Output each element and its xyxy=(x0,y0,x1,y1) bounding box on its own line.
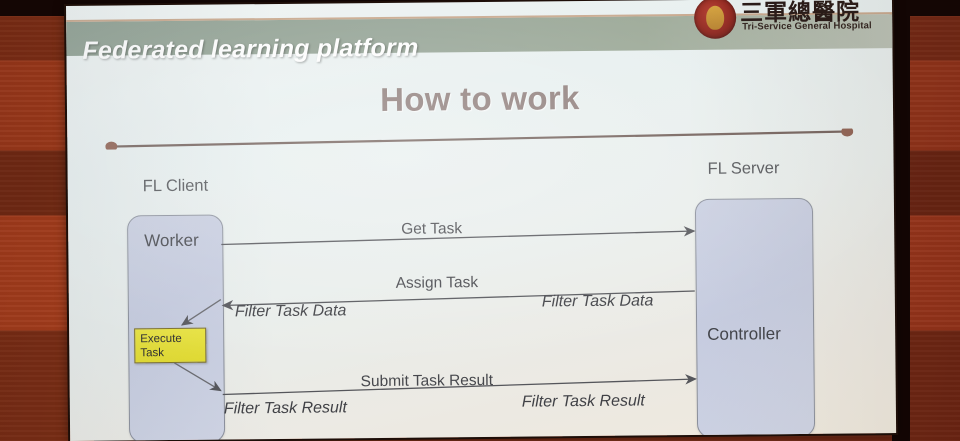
sequence-diagram: FL Client FL Server Worker Controller Ex… xyxy=(66,0,896,441)
arrow-into-execute-task xyxy=(182,300,221,325)
annotation-filter-task-data-left: Filter Task Data xyxy=(235,302,347,321)
annotation-filter-task-result-left: Filter Task Result xyxy=(224,399,347,418)
message-label-get-task: Get Task xyxy=(401,220,462,239)
message-label-submit-task-result: Submit Task Result xyxy=(361,372,494,391)
annotation-filter-task-data-right: Filter Task Data xyxy=(542,292,654,311)
annotation-filter-task-result-right: Filter Task Result xyxy=(522,392,645,411)
arrow-out-of-execute-task xyxy=(174,363,220,391)
projection-screen: Federated learning platform 三軍總醫院 Tri-Se… xyxy=(66,0,896,441)
message-label-assign-task: Assign Task xyxy=(396,274,479,293)
